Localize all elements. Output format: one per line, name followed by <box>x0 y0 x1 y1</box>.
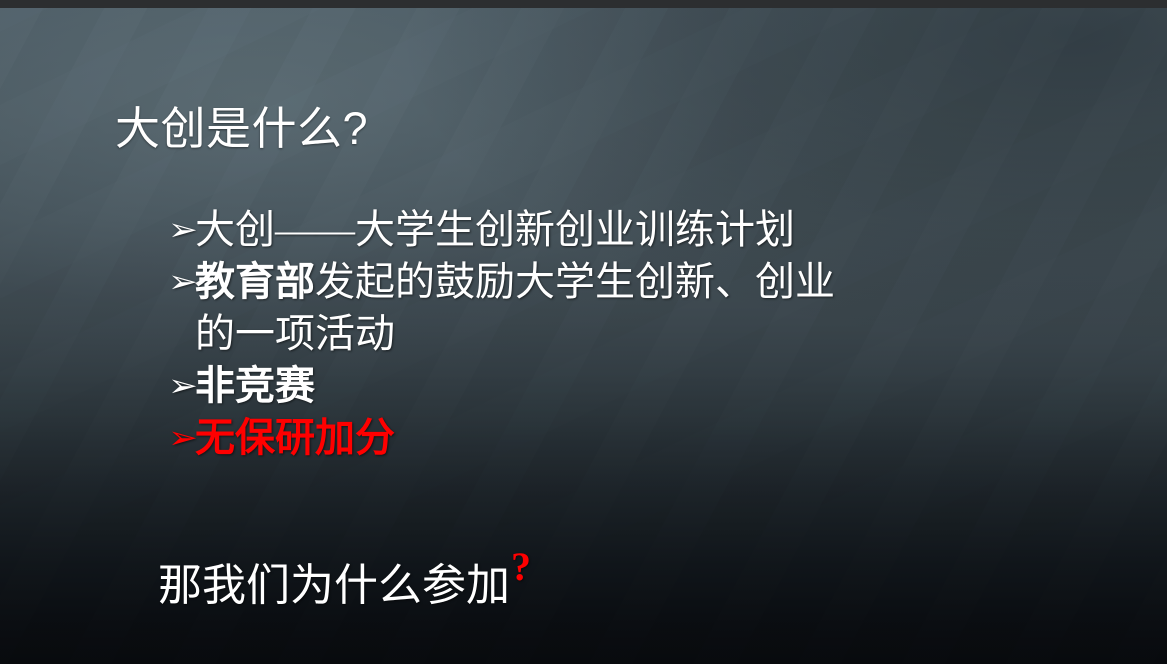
arrow-bullet-icon: ➢ <box>168 256 199 308</box>
closing-question-text: 那我们为什么参加 <box>158 561 510 610</box>
red-question-mark: ? <box>511 544 531 589</box>
list-item-text: 的一项活动 <box>195 311 395 356</box>
slide-content: 大创是什么? ➢大创——大学生创新创业训练计划 ➢教育部发起的鼓励大学生创新、创… <box>0 8 1167 664</box>
closing-question: 那我们为什么参加? <box>158 538 531 615</box>
list-item-continuation: 的一项活动 <box>168 308 1048 360</box>
list-item-text: 非竞赛 <box>195 363 315 408</box>
list-item-text: 无保研加分 <box>195 415 395 460</box>
list-item-text: 大创——大学生创新创业训练计划 <box>195 207 795 252</box>
slide-title: 大创是什么? <box>115 104 368 154</box>
list-item: ➢大创——大学生创新创业训练计划 <box>168 204 1048 256</box>
arrow-bullet-icon: ➢ <box>168 204 199 256</box>
top-chrome-bar <box>0 0 1167 8</box>
list-item: ➢非竞赛 <box>168 360 1048 412</box>
list-item-text: 发起的鼓励大学生创新、创业 <box>315 259 835 304</box>
list-item: ➢教育部发起的鼓励大学生创新、创业 <box>168 256 1048 308</box>
bullet-list: ➢大创——大学生创新创业训练计划 ➢教育部发起的鼓励大学生创新、创业 的一项活动… <box>168 204 1048 464</box>
presentation-slide: 大创是什么? ➢大创——大学生创新创业训练计划 ➢教育部发起的鼓励大学生创新、创… <box>0 0 1167 664</box>
list-item-highlighted: ➢无保研加分 <box>168 412 1048 464</box>
arrow-bullet-icon: ➢ <box>168 360 199 412</box>
list-item-text-emphasis: 教育部 <box>195 259 315 304</box>
arrow-bullet-icon: ➢ <box>168 412 199 464</box>
